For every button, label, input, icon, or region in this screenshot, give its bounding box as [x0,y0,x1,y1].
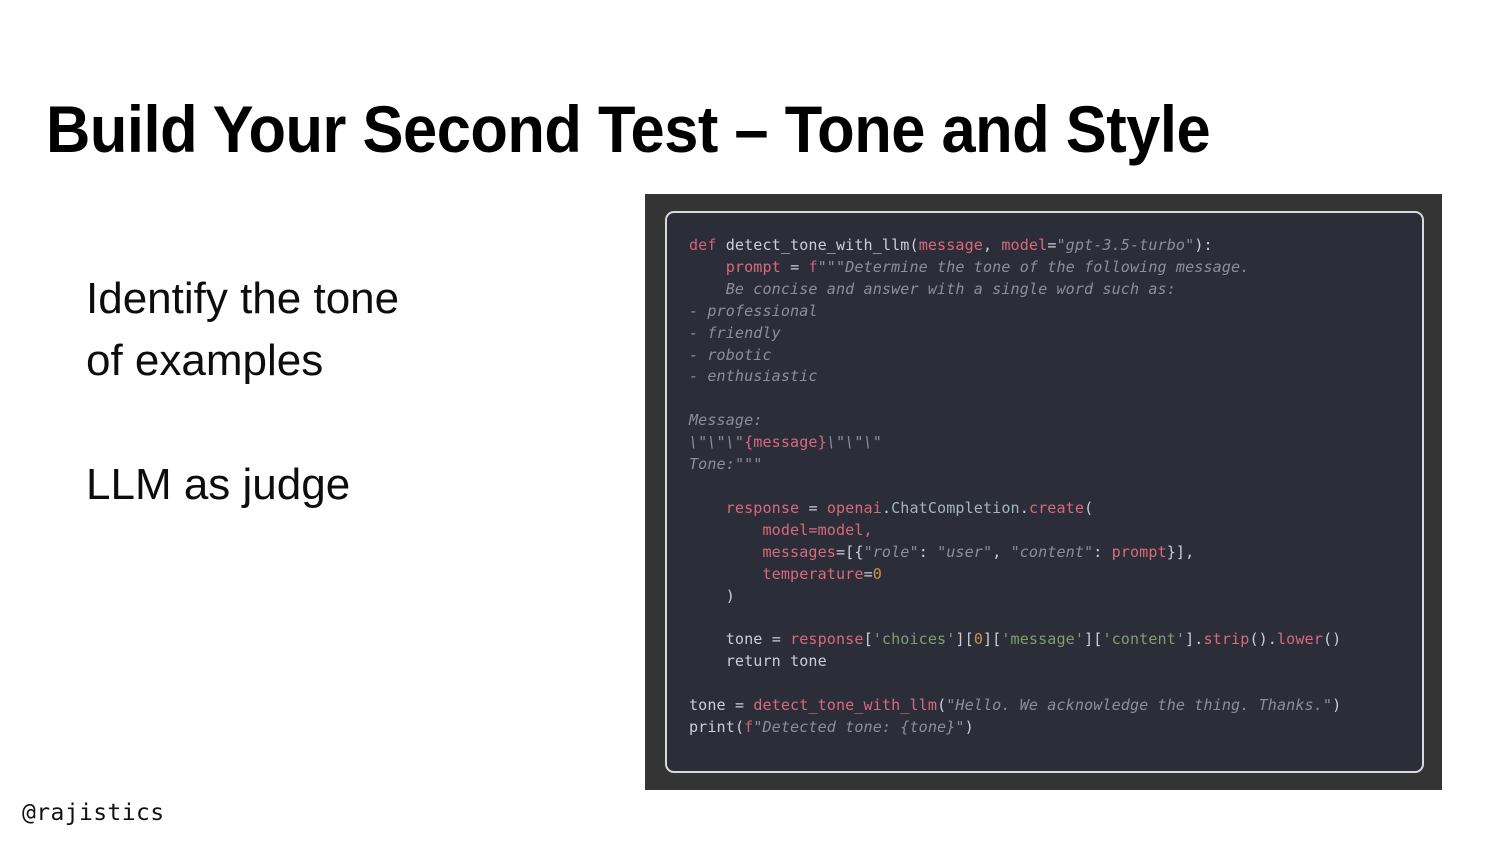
slide-body-text: Identify the tone of examples LLM as jud… [86,268,586,516]
token-param-message: message [919,236,983,254]
token-call-detect-tone: detect_tone_with_llm [753,696,937,714]
token-key-message: 'message' [1001,630,1084,648]
token-return-value-tone: tone [790,652,827,670]
code-screenshot-frame: def detect_tone_with_llm(message, model=… [645,194,1442,790]
token-index-zero: 0 [974,630,983,648]
token-doc-placeholder-message: {message} [744,433,827,451]
token-key-content: "content" [1011,543,1094,561]
token-doc-tone-label: Tone: [689,455,735,473]
token-method-strip: strip [1204,630,1250,648]
token-function-name: detect_tone_with_llm [726,236,910,254]
token-key-role: "role" [864,543,919,561]
token-default-model: "gpt-3.5-turbo" [1057,236,1195,254]
token-key-content-sq: 'content' [1102,630,1185,648]
token-keyword-def: def [689,236,717,254]
token-triple-quote-open: """ [818,258,846,276]
token-ref-response: response [790,630,864,648]
token-doc-item-professional: - professional [689,302,818,320]
token-doc-message-label: Message: [689,411,763,429]
token-doc-line-1: Determine the tone of the following mess… [845,258,1249,276]
python-code-block: def detect_tone_with_llm(message, model=… [689,235,1422,739]
body-line-of-examples: of examples [86,330,586,392]
token-var-prompt: prompt [726,258,781,276]
token-temperature-value: 0 [873,565,882,583]
token-value-user: "user" [937,543,992,561]
token-class-chatcompletion: ChatCompletion [891,499,1020,517]
code-editor-pane: def detect_tone_with_llm(message, model=… [665,211,1424,773]
token-param-model: model [1001,236,1047,254]
token-escaped-quotes-open: \"\"\" [689,433,744,451]
token-var-response: response [726,499,800,517]
token-call-example-string: "Hello. We acknowledge the thing. Thanks… [946,696,1332,714]
body-line-llm-as-judge: LLM as judge [86,454,586,516]
token-triple-quote-close: """ [735,455,763,473]
token-method-lower: lower [1277,630,1323,648]
token-doc-item-robotic: - robotic [689,346,772,364]
token-keyword-return: return [726,652,781,670]
body-paragraph-1: Identify the tone of examples [86,268,586,392]
token-doc-item-enthusiastic: - enthusiastic [689,367,818,385]
token-key-choices: 'choices' [873,630,956,648]
token-print-fstring: "Detected tone: {tone}" [753,718,964,736]
token-assign-tone: tone [726,630,763,648]
author-handle: @rajistics [22,800,164,826]
token-lib-openai: openai [827,499,882,517]
token-module-tone-var: tone [689,696,726,714]
token-method-create: create [1029,499,1084,517]
body-paragraph-2: LLM as judge [86,454,586,516]
token-kwarg-temperature: temperature [763,565,864,583]
token-kwarg-messages: messages [763,543,837,561]
token-kwarg-model: model=model, [763,521,873,539]
token-function-print: print [689,718,735,736]
token-value-prompt: prompt [1112,543,1167,561]
token-print-fstring-prefix: f [744,718,753,736]
body-line-identify-tone: Identify the tone [86,268,586,330]
token-escaped-quotes-close: \"\"\" [827,433,882,451]
token-doc-line-2: Be concise and answer with a single word… [726,280,1176,298]
token-fstring-prefix: f [808,258,817,276]
token-doc-item-friendly: - friendly [689,324,781,342]
page-title: Build Your Second Test – Tone and Style [46,88,1348,170]
